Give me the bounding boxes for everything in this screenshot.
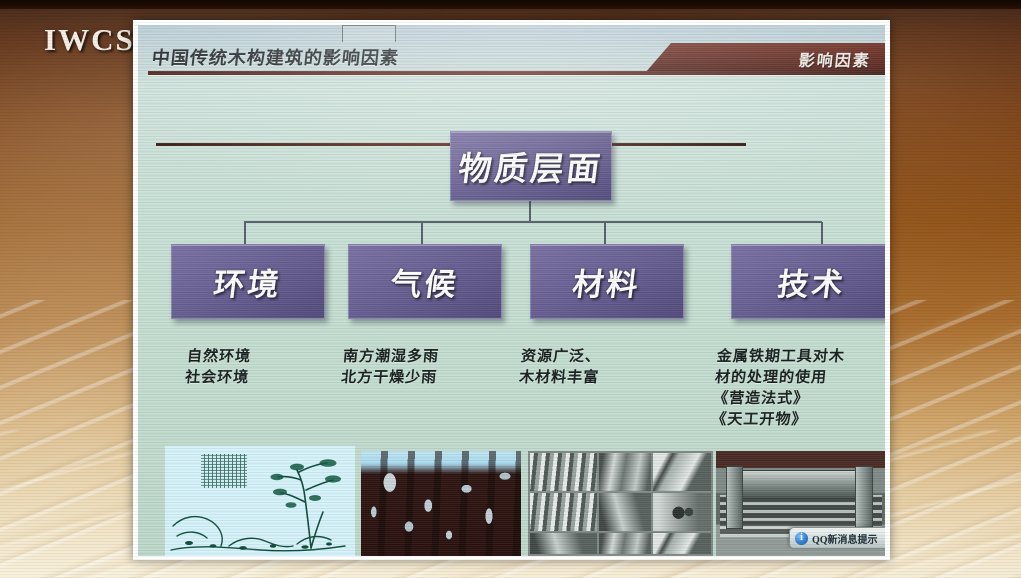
caption-line: 社会环境 (184, 368, 250, 389)
caption-line: 《营造法式》 (712, 389, 842, 410)
frame-top-bar (0, 0, 1021, 9)
chart-node-material: 材料 (530, 244, 684, 319)
caption-line: 自然环境 (186, 347, 252, 368)
connector-drop-3 (604, 222, 606, 244)
chart-node-material-label: 材料 (570, 259, 644, 304)
caption-climate: 南方潮湿多雨 北方干燥少雨 (340, 347, 440, 389)
tool-cell-chisels (530, 453, 597, 491)
tools-grid (528, 451, 713, 556)
machine-post-left (726, 466, 743, 529)
tool-cell-drill (653, 493, 711, 531)
chart-node-environment-label: 环境 (211, 259, 285, 304)
caption-material: 资源广泛、 木材料丰富 (518, 347, 602, 389)
connector-drop-1 (244, 222, 246, 244)
tool-cell-misc-1 (530, 533, 597, 554)
chart-node-climate-label: 气候 (388, 259, 462, 304)
slide-image-forest (361, 451, 521, 556)
presentation-slide-frame: 影响因素 中国传统木构建筑的影响因素 物质层面 环境 气候 材料 (133, 20, 890, 560)
tool-cell-plane (599, 453, 651, 491)
slide-header-bracket (342, 25, 396, 42)
tool-cell-square (599, 493, 651, 531)
connector-horizontal-bus (244, 221, 822, 223)
chart-node-root-label: 物质层面 (456, 142, 606, 190)
slide-title: 中国传统木构建筑的影响因素 (151, 44, 401, 70)
tool-cell-misc-3 (653, 533, 711, 554)
broadcast-frame: IWCS 影响因素 中国传统木构建筑的影响因素 物质层面 环境 (0, 0, 1021, 578)
caption-line: 材的处理的使用 (714, 368, 844, 389)
slide-title-rule (148, 71, 885, 75)
ink-painting-rocks (169, 510, 349, 554)
caption-line: 木材料丰富 (518, 368, 600, 389)
presentation-slide: 影响因素 中国传统木构建筑的影响因素 物质层面 环境 气候 材料 (138, 25, 885, 556)
tool-cell-chisels-2 (530, 493, 597, 531)
qq-notification-toast[interactable]: i QQ新消息提示 (789, 527, 885, 549)
iwcs-logo: IWCS (44, 22, 135, 58)
machine-head (736, 470, 860, 499)
tool-cell-misc-2 (599, 533, 651, 554)
forest-canopy-gaps (361, 451, 521, 556)
chart-node-environment: 环境 (171, 244, 325, 319)
machine-post-right (855, 466, 872, 529)
chart-node-root: 物质层面 (450, 131, 612, 201)
connector-root-stem (529, 199, 531, 222)
caption-line: 南方潮湿多雨 (342, 347, 440, 368)
caption-technology: 金属铁期工具对木 材的处理的使用 《营造法式》 《天工开物》 (710, 347, 845, 431)
caption-line: 金属铁期工具对木 (716, 347, 846, 368)
chart-node-climate: 气候 (348, 244, 502, 319)
chart-node-technology: 技术 (731, 244, 885, 319)
qq-notification-text: QQ新消息提示 (812, 531, 878, 546)
connector-drop-2 (421, 222, 423, 244)
caption-line: 北方干燥少雨 (340, 368, 438, 389)
slide-corner-banner-label: 影响因素 (798, 47, 873, 71)
caption-line: 《天工开物》 (710, 410, 840, 431)
qq-info-icon: i (795, 532, 808, 545)
tool-cell-saw (653, 453, 711, 491)
connector-drop-4 (821, 222, 823, 244)
caption-line: 资源广泛、 (520, 347, 602, 368)
slide-image-tools (528, 451, 713, 556)
slide-image-ink-painting (165, 446, 355, 556)
caption-environment: 自然环境 社会环境 (184, 347, 252, 389)
chart-node-technology-label: 技术 (775, 259, 849, 304)
ink-painting-inscription (201, 454, 247, 488)
